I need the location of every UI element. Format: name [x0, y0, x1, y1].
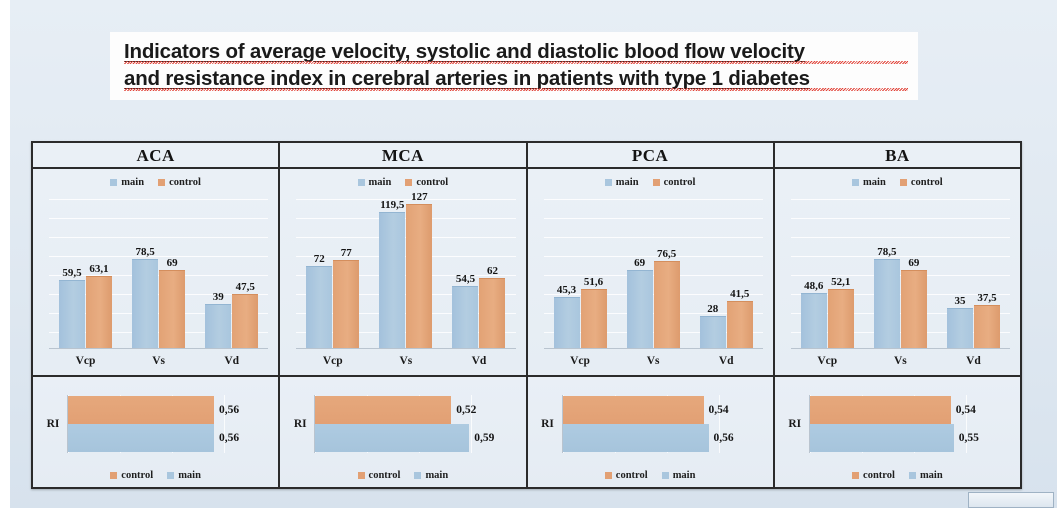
- ri-legend-item-main[interactable]: main: [909, 470, 943, 481]
- legend-swatch-main-icon: [605, 179, 612, 186]
- ri-legend-label-main: main: [425, 470, 448, 481]
- legend-label-main: main: [121, 177, 144, 188]
- x-axis-line: [791, 348, 1010, 349]
- bar-wrap: 48,6: [801, 199, 827, 349]
- ri-chart-cell-pca: RI0,540,56controlmain: [528, 377, 775, 487]
- bar-wrap: 59,5: [59, 199, 85, 349]
- x-axis-line: [544, 348, 763, 349]
- bar-wrap: 69: [901, 199, 927, 349]
- bar-wrap: 37,5: [974, 199, 1000, 349]
- bar-value-label: 45,3: [557, 284, 576, 296]
- ri-bar-control[interactable]: [810, 396, 951, 424]
- bar-value-label: 69: [167, 257, 178, 269]
- bar-value-label: 47,5: [236, 281, 255, 293]
- bar-group-vs: 6976,5: [627, 199, 680, 349]
- ri-legend-label-main: main: [920, 470, 943, 481]
- bar-control-vd[interactable]: 37,5: [974, 305, 1000, 349]
- page-title-line-2: and resistance index in cerebral arterie…: [124, 65, 908, 92]
- ri-row-main: 0,59: [315, 424, 519, 452]
- bar-wrap: 41,5: [727, 199, 753, 349]
- bar-wrap: 35: [947, 199, 973, 349]
- bar-control-vd[interactable]: 41,5: [727, 301, 753, 349]
- ri-legend-swatch-control-icon: [110, 472, 117, 479]
- bar-value-label: 41,5: [730, 288, 749, 300]
- ri-category-label: RI: [534, 418, 562, 430]
- panel-title-mca: MCA: [280, 143, 525, 169]
- x-axis-labels: VcpVsVd: [791, 351, 1010, 371]
- bar-wrap: 62: [479, 199, 505, 349]
- plot-area: 59,563,178,5693947,5: [49, 199, 268, 349]
- ri-legend-item-control[interactable]: control: [852, 470, 895, 481]
- x-axis-line: [49, 348, 268, 349]
- bar-main-vs[interactable]: 78,5: [132, 259, 158, 349]
- legend-label-main: main: [863, 177, 886, 188]
- bar-value-label: 37,5: [977, 292, 996, 304]
- page-title: Indicators of average velocity, systolic…: [110, 32, 918, 100]
- legend-label-control: control: [664, 177, 696, 188]
- bar-main-vd[interactable]: 28: [700, 316, 726, 349]
- legend-item-main[interactable]: main: [852, 177, 886, 188]
- x-tick-label-vd: Vd: [451, 355, 507, 367]
- ri-row-main: 0,56: [563, 424, 767, 452]
- bar-control-vcp[interactable]: 77: [333, 260, 359, 349]
- bar-control-vs[interactable]: 76,5: [654, 261, 680, 349]
- ri-chart-cell-mca: RI0,520,59controlmain: [280, 377, 527, 487]
- slide-left-margin: [0, 0, 10, 512]
- bar-control-vs[interactable]: 69: [159, 270, 185, 349]
- ri-bar-main[interactable]: [810, 424, 954, 452]
- legend-swatch-main-icon: [852, 179, 859, 186]
- bar-main-vd[interactable]: 35: [947, 308, 973, 349]
- ri-legend-item-main[interactable]: main: [167, 470, 201, 481]
- bar-group-vs: 119,5127: [379, 199, 432, 349]
- bar-chart-cell-aca: ACAmaincontrol59,563,178,5693947,5VcpVsV…: [33, 143, 280, 375]
- bar-chart-pca: maincontrol45,351,66976,52841,5VcpVsVd: [528, 169, 773, 375]
- ri-value-label-control: 0,56: [219, 404, 239, 416]
- ri-bar-control[interactable]: [563, 396, 704, 424]
- ri-value-label-control: 0,52: [456, 404, 476, 416]
- bar-control-vs[interactable]: 127: [406, 204, 432, 349]
- bar-main-vcp[interactable]: 72: [306, 266, 332, 349]
- legend-item-control[interactable]: control: [900, 177, 943, 188]
- ri-bars: 0,560,56: [67, 395, 272, 453]
- ri-legend-item-control[interactable]: control: [605, 470, 648, 481]
- ri-plot-row: RI0,540,56: [534, 385, 767, 463]
- bar-wrap: 63,1: [86, 199, 112, 349]
- bar-groups: 59,563,178,5693947,5: [49, 199, 268, 349]
- ri-legend-swatch-main-icon: [414, 472, 421, 479]
- bar-control-vs[interactable]: 69: [901, 270, 927, 349]
- ri-bar-main[interactable]: [563, 424, 709, 452]
- ri-legend-item-control[interactable]: control: [358, 470, 401, 481]
- legend-item-control[interactable]: control: [158, 177, 201, 188]
- bar-charts-row: ACAmaincontrol59,563,178,5693947,5VcpVsV…: [33, 143, 1020, 375]
- bar-wrap: 51,6: [581, 199, 607, 349]
- x-tick-label-vd: Vd: [945, 355, 1001, 367]
- bar-group-vd: 3537,5: [947, 199, 1000, 349]
- ri-legend-swatch-main-icon: [167, 472, 174, 479]
- bar-wrap: 69: [159, 199, 185, 349]
- bar-value-label: 127: [411, 191, 428, 203]
- bar-value-label: 69: [634, 257, 645, 269]
- bar-chart-cell-ba: BAmaincontrol48,652,178,5693537,5VcpVsVd: [775, 143, 1020, 375]
- bar-chart-aca: maincontrol59,563,178,5693947,5VcpVsVd: [33, 169, 278, 375]
- ri-legend-swatch-control-icon: [605, 472, 612, 479]
- bar-value-label: 28: [707, 303, 718, 315]
- ri-chart-legend: controlmain: [39, 463, 272, 487]
- bar-value-label: 39: [213, 291, 224, 303]
- bar-groups: 48,652,178,5693537,5: [791, 199, 1010, 349]
- bar-value-label: 77: [341, 247, 352, 259]
- chart-legend: maincontrol: [528, 169, 773, 191]
- bar-main-vcp[interactable]: 59,5: [59, 280, 85, 349]
- ri-plot-row: RI0,540,55: [781, 385, 1014, 463]
- ri-value-label-control: 0,54: [709, 404, 729, 416]
- x-tick-label-vcp: Vcp: [799, 355, 855, 367]
- ri-category-label: RI: [781, 418, 809, 430]
- ri-category-label: RI: [286, 418, 314, 430]
- bar-group-vd: 3947,5: [205, 199, 258, 349]
- legend-label-main: main: [616, 177, 639, 188]
- bar-value-label: 59,5: [62, 267, 81, 279]
- bar-wrap: 52,1: [828, 199, 854, 349]
- ri-legend-swatch-main-icon: [662, 472, 669, 479]
- bar-group-vs: 78,569: [874, 199, 927, 349]
- bar-value-label: 69: [908, 257, 919, 269]
- legend-swatch-control-icon: [158, 179, 165, 186]
- ri-value-label-main: 0,55: [959, 432, 979, 444]
- bar-wrap: 72: [306, 199, 332, 349]
- legend-swatch-main-icon: [110, 179, 117, 186]
- panel-title-pca: PCA: [528, 143, 773, 169]
- ri-chart-mca: RI0,520,59controlmain: [280, 377, 525, 487]
- bar-wrap: 54,5: [452, 199, 478, 349]
- bar-main-vd[interactable]: 54,5: [452, 286, 478, 349]
- x-tick-label-vcp: Vcp: [305, 355, 361, 367]
- x-tick-label-vs: Vs: [131, 355, 187, 367]
- bar-main-vs[interactable]: 78,5: [874, 259, 900, 349]
- ri-plot-row: RI0,560,56: [39, 385, 272, 463]
- legend-item-main[interactable]: main: [110, 177, 144, 188]
- legend-label-main: main: [369, 177, 392, 188]
- bar-group-vs: 78,569: [132, 199, 185, 349]
- slide-bottom-margin: [0, 508, 1057, 512]
- x-tick-label-vs: Vs: [625, 355, 681, 367]
- ri-bars: 0,540,55: [809, 395, 1014, 453]
- ri-legend-swatch-control-icon: [852, 472, 859, 479]
- ri-bars: 0,540,56: [562, 395, 767, 453]
- bar-control-vcp[interactable]: 52,1: [828, 289, 854, 349]
- legend-swatch-control-icon: [653, 179, 660, 186]
- ri-legend-label-main: main: [178, 470, 201, 481]
- bar-chart-cell-mca: MCAmaincontrol7277119,512754,562VcpVsVd: [280, 143, 527, 375]
- bar-value-label: 78,5: [135, 246, 154, 258]
- bar-control-vcp[interactable]: 63,1: [86, 276, 112, 349]
- bar-value-label: 51,6: [584, 276, 603, 288]
- bar-wrap: 77: [333, 199, 359, 349]
- bar-value-label: 48,6: [804, 280, 823, 292]
- x-tick-label-vd: Vd: [204, 355, 260, 367]
- panel-title-ba: BA: [775, 143, 1020, 169]
- ri-value-label-main: 0,59: [474, 432, 494, 444]
- legend-label-control: control: [911, 177, 943, 188]
- bar-main-vs[interactable]: 119,5: [379, 212, 405, 349]
- x-axis-line: [296, 348, 515, 349]
- bar-main-vd[interactable]: 39: [205, 304, 231, 349]
- ri-row-control: 0,56: [68, 396, 272, 424]
- bar-wrap: 127: [406, 199, 432, 349]
- plot-area: 48,652,178,5693537,5: [791, 199, 1010, 349]
- bar-value-label: 35: [954, 295, 965, 307]
- ri-plot-row: RI0,520,59: [286, 385, 519, 463]
- legend-swatch-main-icon: [358, 179, 365, 186]
- x-axis-labels: VcpVsVd: [544, 351, 763, 371]
- ri-value-label-main: 0,56: [714, 432, 734, 444]
- ri-legend-label-control: control: [863, 470, 895, 481]
- ri-chart-cell-aca: RI0,560,56controlmain: [33, 377, 280, 487]
- ri-legend-item-main[interactable]: main: [662, 470, 696, 481]
- bar-control-vcp[interactable]: 51,6: [581, 289, 607, 349]
- x-tick-label-vs: Vs: [378, 355, 434, 367]
- ri-legend-item-main[interactable]: main: [414, 470, 448, 481]
- ri-chart-cell-ba: RI0,540,55controlmain: [775, 377, 1020, 487]
- bar-wrap: 78,5: [874, 199, 900, 349]
- bar-groups: 7277119,512754,562: [296, 199, 515, 349]
- x-axis-labels: VcpVsVd: [296, 351, 515, 371]
- ri-legend-label-main: main: [673, 470, 696, 481]
- bar-value-label: 63,1: [89, 263, 108, 275]
- x-tick-label-vcp: Vcp: [552, 355, 608, 367]
- x-tick-label-vcp: Vcp: [58, 355, 114, 367]
- chart-legend: maincontrol: [775, 169, 1020, 191]
- ri-chart-ba: RI0,540,55controlmain: [775, 377, 1020, 487]
- ri-chart-legend: controlmain: [286, 463, 519, 487]
- x-axis-labels: VcpVsVd: [49, 351, 268, 371]
- ri-legend-label-control: control: [616, 470, 648, 481]
- ri-legend-item-control[interactable]: control: [110, 470, 153, 481]
- bar-group-vcp: 7277: [306, 199, 359, 349]
- bar-value-label: 76,5: [657, 248, 676, 260]
- bar-value-label: 119,5: [380, 199, 404, 211]
- ri-legend-label-control: control: [121, 470, 153, 481]
- ri-bar-main[interactable]: [315, 424, 469, 452]
- bar-chart-cell-pca: PCAmaincontrol45,351,66976,52841,5VcpVsV…: [528, 143, 775, 375]
- legend-item-main[interactable]: main: [605, 177, 639, 188]
- bar-control-vd[interactable]: 62: [479, 278, 505, 349]
- bar-value-label: 78,5: [877, 246, 896, 258]
- bar-group-vd: 2841,5: [700, 199, 753, 349]
- slide-canvas: Indicators of average velocity, systolic…: [0, 0, 1057, 512]
- panel-title-aca: ACA: [33, 143, 278, 169]
- ri-chart-aca: RI0,560,56controlmain: [33, 377, 278, 487]
- ri-value-label-control: 0,54: [956, 404, 976, 416]
- bar-value-label: 52,1: [831, 276, 850, 288]
- bar-group-vcp: 45,351,6: [554, 199, 607, 349]
- legend-label-control: control: [169, 177, 201, 188]
- bar-main-vs[interactable]: 69: [627, 270, 653, 349]
- bar-wrap: 69: [627, 199, 653, 349]
- ri-chart-legend: controlmain: [534, 463, 767, 487]
- bar-groups: 45,351,66976,52841,5: [544, 199, 763, 349]
- legend-item-control[interactable]: control: [405, 177, 448, 188]
- bar-value-label: 62: [487, 265, 498, 277]
- legend-item-control[interactable]: control: [653, 177, 696, 188]
- bar-control-vd[interactable]: 47,5: [232, 294, 258, 349]
- chart-legend: maincontrol: [280, 169, 525, 191]
- ri-bar-main[interactable]: [68, 424, 214, 452]
- chart-legend: maincontrol: [33, 169, 278, 191]
- bar-wrap: 45,3: [554, 199, 580, 349]
- ri-row-control: 0,52: [315, 396, 519, 424]
- bar-group-vcp: 59,563,1: [59, 199, 112, 349]
- plot-area: 45,351,66976,52841,5: [544, 199, 763, 349]
- bar-wrap: 39: [205, 199, 231, 349]
- bar-group-vcp: 48,652,1: [801, 199, 854, 349]
- charts-table: ACAmaincontrol59,563,178,5693947,5VcpVsV…: [31, 141, 1022, 489]
- bar-group-vd: 54,562: [452, 199, 505, 349]
- legend-item-main[interactable]: main: [358, 177, 392, 188]
- ri-legend-label-control: control: [369, 470, 401, 481]
- bar-value-label: 72: [314, 253, 325, 265]
- bar-wrap: 76,5: [654, 199, 680, 349]
- bar-wrap: 47,5: [232, 199, 258, 349]
- ri-chart-legend: controlmain: [781, 463, 1014, 487]
- x-tick-label-vd: Vd: [698, 355, 754, 367]
- ri-chart-pca: RI0,540,56controlmain: [528, 377, 773, 487]
- bar-chart-mca: maincontrol7277119,512754,562VcpVsVd: [280, 169, 525, 375]
- legend-swatch-control-icon: [405, 179, 412, 186]
- page-title-line-1: Indicators of average velocity, systolic…: [124, 38, 908, 65]
- ri-row-control: 0,54: [563, 396, 767, 424]
- plot-area: 7277119,512754,562: [296, 199, 515, 349]
- legend-label-control: control: [416, 177, 448, 188]
- bar-wrap: 78,5: [132, 199, 158, 349]
- x-tick-label-vs: Vs: [872, 355, 928, 367]
- legend-swatch-control-icon: [900, 179, 907, 186]
- bar-main-vcp[interactable]: 45,3: [554, 297, 580, 349]
- corner-ui-fragment[interactable]: [968, 492, 1054, 508]
- ri-bar-control[interactable]: [68, 396, 214, 424]
- ri-row-control: 0,54: [810, 396, 1014, 424]
- bar-wrap: 119,5: [379, 199, 405, 349]
- ri-legend-swatch-control-icon: [358, 472, 365, 479]
- ri-legend-swatch-main-icon: [909, 472, 916, 479]
- ri-value-label-main: 0,56: [219, 432, 239, 444]
- ri-bars: 0,520,59: [314, 395, 519, 453]
- bar-chart-ba: maincontrol48,652,178,5693537,5VcpVsVd: [775, 169, 1020, 375]
- ri-bar-control[interactable]: [315, 396, 451, 424]
- bar-wrap: 28: [700, 199, 726, 349]
- bar-main-vcp[interactable]: 48,6: [801, 293, 827, 349]
- ri-charts-row: RI0,560,56controlmainRI0,520,59controlma…: [33, 375, 1020, 487]
- ri-row-main: 0,56: [68, 424, 272, 452]
- ri-category-label: RI: [39, 418, 67, 430]
- bar-value-label: 54,5: [456, 273, 475, 285]
- ri-row-main: 0,55: [810, 424, 1014, 452]
